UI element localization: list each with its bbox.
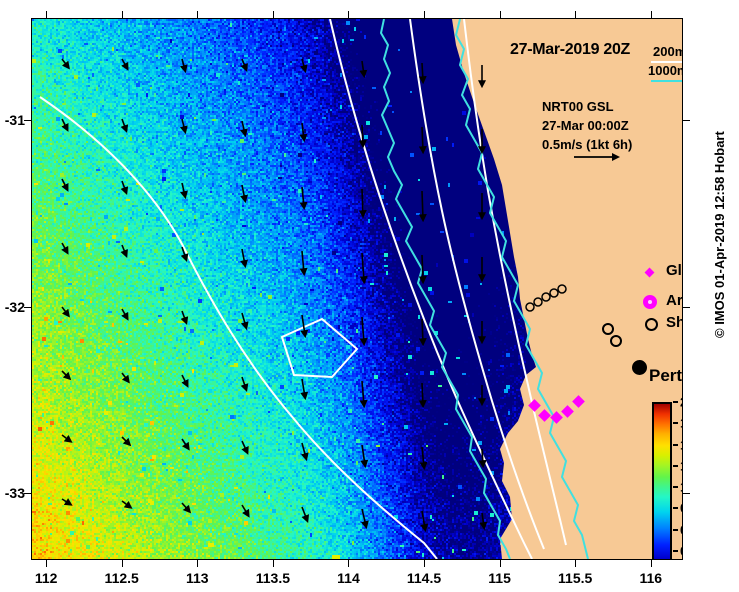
y-tick-label: -33	[0, 485, 25, 501]
y-tick-mark	[24, 307, 31, 308]
y-tick-label: -32	[0, 299, 25, 315]
y-axis: -31-32-33	[0, 0, 739, 592]
y-tick-mark-right	[683, 307, 690, 308]
map-figure: 27-Mar-2019 20Z 200m 1000m NRT00 GSL 27-…	[0, 0, 739, 592]
y-tick-mark-right	[683, 493, 690, 494]
y-tick-label: -31	[0, 112, 25, 128]
y-tick-mark	[24, 493, 31, 494]
y-tick-mark-right	[683, 120, 690, 121]
copyright-notice: © IMOS 01-Apr-2019 12:58 Hobart	[712, 131, 727, 338]
y-tick-mark	[24, 120, 31, 121]
